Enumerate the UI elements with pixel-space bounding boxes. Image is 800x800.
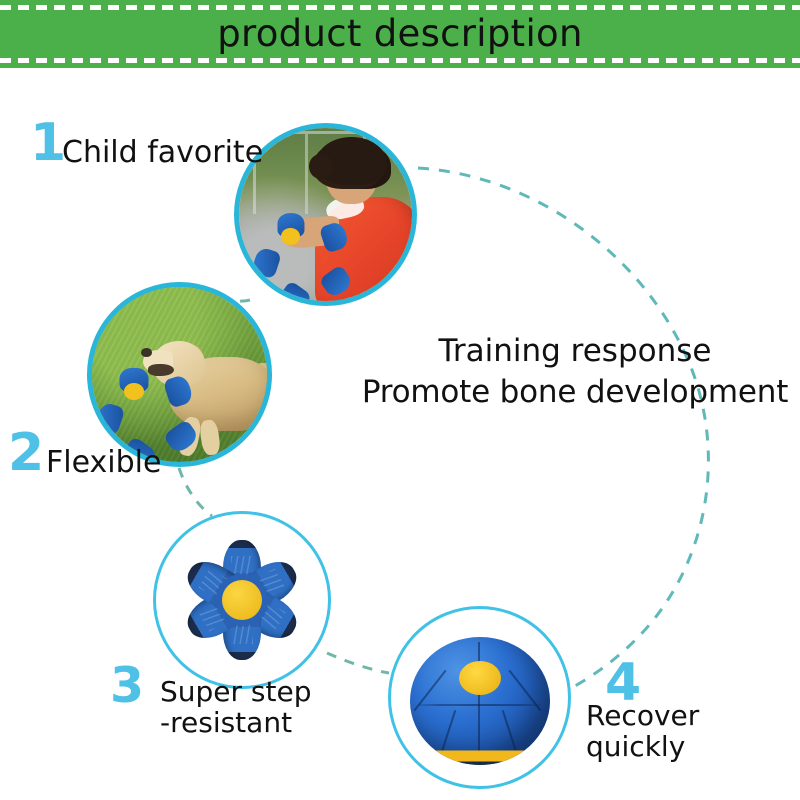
product-description-infographic: product description 1 Child favorite	[0, 0, 800, 800]
feature-image-recover-quickly	[388, 606, 571, 789]
ball-yellow-center	[222, 580, 262, 620]
feature-number-3: 3	[110, 661, 144, 710]
dog-nose	[141, 348, 152, 357]
feature-number-1: 1	[30, 117, 66, 169]
center-message: Training response Promote bone developme…	[352, 331, 798, 413]
flat-ball-on-grass	[103, 366, 166, 419]
ball-yellow-center	[459, 661, 501, 695]
feature-label-3-line1: Super step	[160, 675, 312, 708]
header-banner: product description	[0, 0, 800, 68]
feature-label-3-line2: -resistant	[160, 706, 292, 739]
round-ball	[410, 637, 550, 765]
feature-image-flexible	[87, 282, 272, 467]
ball-yellow-rim	[418, 745, 541, 765]
page-title: product description	[0, 0, 800, 68]
feature-label-2: Flexible	[46, 446, 161, 480]
boy-hair	[317, 137, 386, 185]
center-message-line1: Training response	[352, 331, 798, 372]
feature-label-3: Super step -resistant	[160, 676, 312, 739]
flat-ball-in-hand	[261, 211, 320, 263]
feature-label-1: Child favorite	[62, 136, 263, 170]
flat-flower-ball	[174, 532, 310, 668]
feature-image-super-step-resistant	[153, 511, 331, 689]
center-message-line2: Promote bone development	[352, 372, 798, 413]
feature-number-2: 2	[8, 427, 44, 479]
feature-label-4: Recover quickly	[586, 700, 800, 763]
